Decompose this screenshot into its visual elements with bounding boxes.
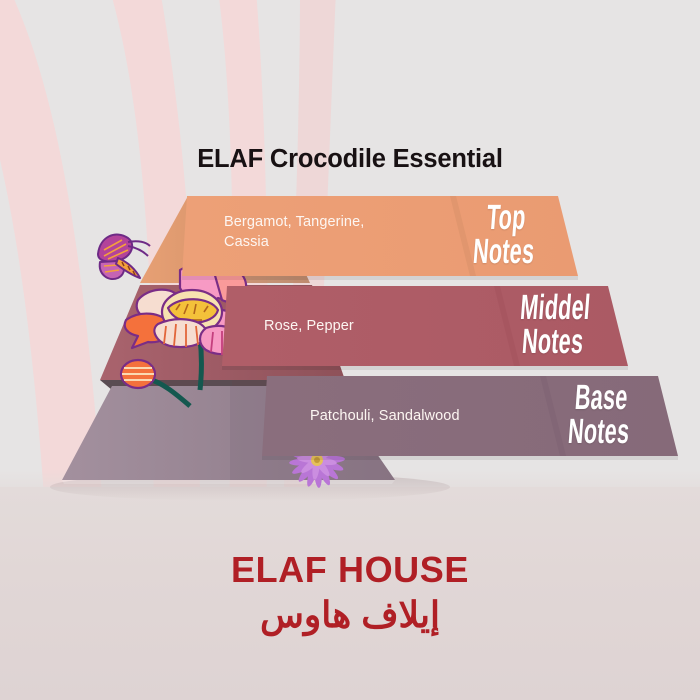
- tier-base-text-group: Patchouli, Sandalwood Base Notes: [262, 372, 682, 464]
- tier-middle-note-label: Middel Notes: [508, 291, 600, 358]
- tier-base-note-label: Base Notes: [554, 381, 646, 448]
- brand-name-english: ELAF HOUSE: [0, 549, 700, 591]
- tier-middle-ingredients: Rose, Pepper: [264, 316, 484, 336]
- brand-name-arabic: إيلاف هاوس: [0, 594, 700, 636]
- tier-top-text-group: Bergamot, Tangerine, Cassia Top Notes: [182, 192, 582, 284]
- tier-base-ingredients: Patchouli, Sandalwood: [310, 406, 540, 426]
- tier-top-ingredients: Bergamot, Tangerine, Cassia: [224, 212, 424, 252]
- tier-top-note-label: Top Notes: [462, 201, 548, 268]
- tier-middle-text-group: Rose, Pepper Middel Notes: [222, 282, 632, 374]
- perfume-note-pyramid-poster: ELAF Crocodile Essential: [0, 0, 700, 700]
- page-title: ELAF Crocodile Essential: [0, 145, 700, 174]
